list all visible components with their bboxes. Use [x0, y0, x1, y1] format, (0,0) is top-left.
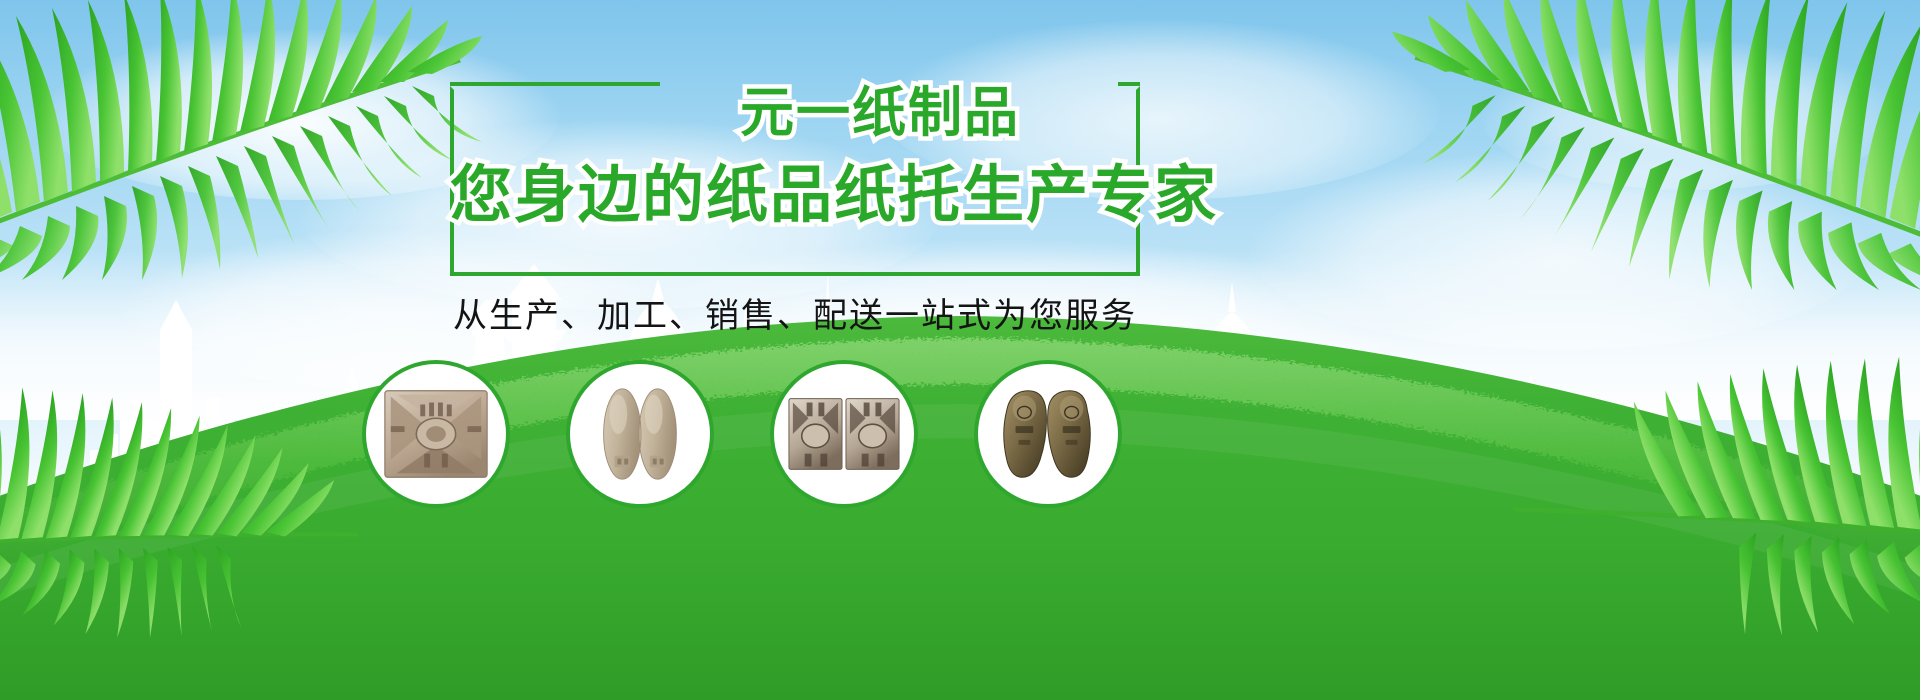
banner-subtitle: 从生产、加工、销售、配送一站式为您服务 [450, 288, 1140, 337]
headline-line-2: 您身边的纸品纸托生产专家 [450, 144, 1140, 234]
product-circle-3[interactable] [770, 360, 918, 508]
dark-pulp-shoe-trees-icon [989, 384, 1107, 484]
square-pulp-tray-icon [377, 384, 495, 484]
product-circle-4[interactable] [974, 360, 1122, 508]
promo-banner: 元一纸制品 您身边的纸品纸托生产专家 从生产、加工、销售、配送一站式为您服务 [0, 0, 1920, 700]
product-circle-2[interactable] [566, 360, 714, 508]
product-circle-1[interactable] [362, 360, 510, 508]
pulp-shoe-inserts-icon [581, 384, 699, 484]
headline-block: 元一纸制品 您身边的纸品纸托生产专家 [450, 86, 1140, 276]
paired-pulp-trays-icon [785, 384, 903, 484]
headline-line-1: 元一纸制品 [450, 68, 1140, 147]
palm-frond-top-left-icon [0, 0, 490, 280]
palm-frond-top-right-icon [1380, 0, 1920, 290]
